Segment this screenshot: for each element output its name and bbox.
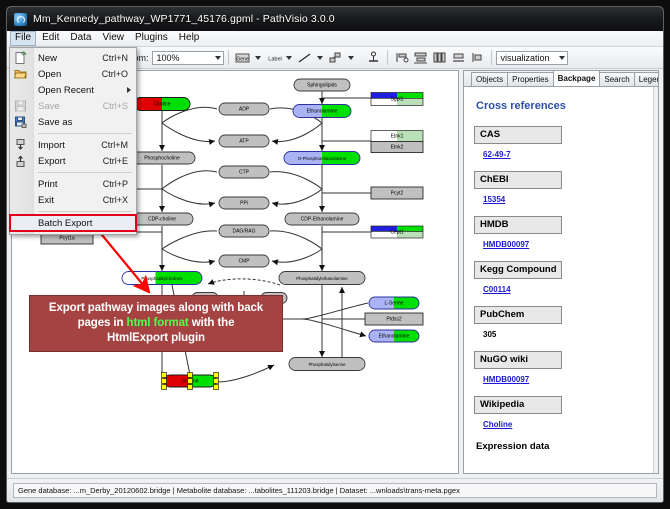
save-disk-icon bbox=[14, 100, 27, 113]
title-bar: Mm_Kennedy_pathway_WP1771_45176.gpml - P… bbox=[7, 7, 663, 31]
pathway-node-label: ATP bbox=[239, 138, 249, 144]
pathway-node-label: CDP-choline bbox=[148, 216, 176, 222]
menu-bar: File Edit Data View Plugins Help bbox=[7, 31, 663, 47]
status-text: Gene database: ...m_Derby_20120602.bridg… bbox=[13, 483, 657, 498]
pathway-node-label: DAG/RAG bbox=[232, 228, 255, 234]
toolbar-separator bbox=[228, 50, 229, 65]
annotation-callout: Export pathway images along with back pa… bbox=[29, 295, 283, 352]
pathway-node-metabolite[interactable]: O-Phosphoethanolamine bbox=[284, 152, 360, 165]
menu-item-print[interactable]: Print Ctrl+P bbox=[10, 176, 136, 192]
pathway-node-metabolite[interactable]: Phosphatidylserine bbox=[289, 358, 365, 371]
pathway-node-gene[interactable]: Etnk1 bbox=[371, 131, 423, 142]
pathway-node-label: Choline bbox=[154, 101, 171, 107]
menu-item-label: Export bbox=[38, 156, 103, 167]
screenshot-root: Mm_Kennedy_pathway_WP1771_45176.gpml - P… bbox=[0, 0, 670, 509]
pathway-node-label: CDP-Ethanolamine bbox=[301, 216, 344, 222]
annotation-line-2a: pages in bbox=[78, 317, 127, 329]
menu-plugins[interactable]: Plugins bbox=[130, 31, 173, 46]
xref-link-cas[interactable]: 62-49-7 bbox=[483, 150, 511, 159]
annotation-line-3: HtmlExport plugin bbox=[107, 332, 205, 344]
xref-db-label: Kegg Compound bbox=[474, 261, 562, 279]
selection-handle[interactable] bbox=[214, 373, 219, 378]
menu-item-label: Print bbox=[38, 179, 103, 190]
menu-item-accel: Ctrl+M bbox=[101, 140, 136, 150]
receptor-tool[interactable] bbox=[327, 49, 344, 66]
label-tool[interactable]: Label bbox=[265, 49, 282, 66]
line-tool[interactable] bbox=[296, 49, 313, 66]
selection-handle[interactable] bbox=[162, 385, 167, 390]
menu-item-label: New bbox=[38, 53, 102, 64]
open-folder-icon bbox=[14, 68, 27, 81]
pathway-node-metabolite[interactable]: Ethanolamine bbox=[293, 105, 351, 118]
receptor-dropdown-icon[interactable] bbox=[348, 56, 354, 60]
pathway-node-gene[interactable]: Ptdss2 bbox=[365, 313, 423, 325]
menu-separator bbox=[38, 133, 132, 134]
pathway-node-metabolite[interactable]: ADP bbox=[219, 103, 269, 115]
xref-db-label: Wikipedia bbox=[474, 396, 562, 414]
cross-references-title: Cross references bbox=[476, 100, 648, 112]
menu-file[interactable]: File bbox=[10, 31, 36, 46]
tab-properties[interactable]: Properties bbox=[507, 72, 553, 86]
side-panel-tabs: Objects Properties Backpage Search Legen… bbox=[464, 71, 658, 87]
annotation-line-2b: with the bbox=[189, 317, 235, 329]
pathway-node-metabolite[interactable]: CDP-Ethanolamine bbox=[285, 213, 359, 225]
order-icon[interactable] bbox=[469, 49, 486, 66]
pathway-node-label: Phosphocholine bbox=[144, 155, 180, 161]
menu-item-save-as[interactable]: Save as bbox=[10, 114, 136, 130]
chevron-down-icon bbox=[559, 56, 565, 60]
expression-data-heading: Expression data bbox=[476, 441, 648, 452]
menu-help[interactable]: Help bbox=[174, 31, 205, 46]
zoom-combobox[interactable]: 100% bbox=[152, 51, 224, 65]
line-dropdown-icon[interactable] bbox=[317, 56, 323, 60]
status-bar: Gene database: ...m_Derby_20120602.bridg… bbox=[7, 478, 663, 502]
pathway-node-label: Sgpl1 bbox=[391, 96, 404, 102]
gene-shape-tool[interactable]: Gene bbox=[234, 49, 251, 66]
pathway-node-label: Ethanolamine bbox=[379, 333, 410, 339]
anchor-tool[interactable] bbox=[365, 49, 382, 66]
menu-item-accel: Ctrl+P bbox=[103, 179, 136, 189]
xref-cas: CAS 62-49-7 bbox=[474, 126, 648, 162]
menu-item-save: Save Ctrl+S bbox=[10, 98, 136, 114]
xref-link-kegg[interactable]: C00114 bbox=[483, 285, 511, 294]
menu-item-import[interactable]: Import Ctrl+M bbox=[10, 137, 136, 153]
chevron-down-icon bbox=[215, 56, 221, 60]
menu-item-label: Exit bbox=[38, 195, 103, 206]
menu-view[interactable]: View bbox=[97, 31, 129, 46]
import-icon bbox=[14, 139, 27, 152]
selection-handle[interactable] bbox=[162, 379, 167, 384]
export-icon bbox=[14, 155, 27, 168]
backpage-scrollbar[interactable] bbox=[653, 87, 658, 473]
pathway-node-metabolite[interactable]: ATP bbox=[219, 135, 269, 147]
pathway-node-label: Sphingolipids bbox=[307, 82, 337, 88]
group-icon[interactable] bbox=[450, 49, 467, 66]
tab-search[interactable]: Search bbox=[599, 72, 634, 86]
stack-icon[interactable] bbox=[431, 49, 448, 66]
menu-item-accel: Ctrl+O bbox=[102, 69, 136, 79]
pathway-node-metabolite[interactable]: Choline bbox=[134, 98, 190, 111]
pathway-node-gene[interactable]: Pcyt2 bbox=[371, 187, 423, 199]
selection-handle[interactable] bbox=[214, 385, 219, 390]
tab-legend[interactable]: Legend bbox=[634, 72, 659, 86]
menu-item-accel: Ctrl+E bbox=[103, 156, 136, 166]
menu-item-accel: Ctrl+X bbox=[103, 195, 136, 205]
visualization-combobox[interactable]: visualization bbox=[496, 51, 568, 65]
pathway-node-label: Pcyt2 bbox=[391, 190, 404, 196]
pathway-node-metabolite[interactable]: CTP bbox=[219, 166, 269, 178]
menu-edit[interactable]: Edit bbox=[37, 31, 64, 46]
xref-db-label: NuGO wiki bbox=[474, 351, 562, 369]
menu-item-label: Save as bbox=[38, 117, 128, 128]
xref-db-label: CAS bbox=[474, 126, 562, 144]
pathway-node-metabolite[interactable]: Phosphatidylethanolamine bbox=[279, 272, 365, 285]
menu-separator-2 bbox=[38, 172, 132, 173]
xref-pubchem: PubChem 305 bbox=[474, 306, 648, 342]
pathway-node-metabolite[interactable]: DAG/RAG bbox=[219, 225, 269, 237]
align-left-icon[interactable] bbox=[393, 49, 410, 66]
menu-item-exit[interactable]: Exit Ctrl+X bbox=[10, 192, 136, 208]
xref-db-label: HMDB bbox=[474, 216, 562, 234]
menu-item-accel: Ctrl+N bbox=[102, 53, 136, 63]
window-title: Mm_Kennedy_pathway_WP1771_45176.gpml - P… bbox=[33, 13, 335, 25]
pathway-node-metabolite[interactable]: PPi bbox=[219, 197, 269, 209]
pathway-node-label: L-Serine bbox=[385, 300, 404, 306]
menu-item-label: Open bbox=[38, 69, 102, 80]
pathway-node-label: Phosphatidylethanolamine bbox=[296, 276, 348, 281]
visualization-value: visualization bbox=[501, 53, 550, 63]
xref-link-hmdb[interactable]: HMDB00097 bbox=[483, 240, 529, 249]
pathway-node-gene[interactable]: Sgpl1 bbox=[371, 93, 423, 106]
pathway-node-metabolite[interactable]: Ethanolamine bbox=[369, 330, 419, 342]
pathway-node-gene[interactable]: Cept1 bbox=[371, 226, 423, 238]
annotation-text: Export pathway images along with back pa… bbox=[49, 301, 263, 346]
xref-db-label: ChEBI bbox=[474, 171, 562, 189]
pathway-node-label: Phosphatidylcholines bbox=[141, 276, 183, 281]
svg-text:Label: Label bbox=[268, 56, 281, 62]
toolbar-separator-3 bbox=[491, 50, 492, 65]
pathway-node-metabolite[interactable]: Phosphocholine bbox=[129, 152, 195, 164]
pathway-node-metabolite[interactable]: CDP-choline bbox=[131, 213, 193, 225]
menu-item-new[interactable]: New Ctrl+N bbox=[10, 50, 136, 66]
pathway-node-label: PPi bbox=[240, 200, 248, 206]
tab-objects[interactable]: Objects bbox=[471, 72, 508, 86]
pathway-node-gene[interactable]: Etnk2 bbox=[371, 142, 423, 153]
menu-item-open-recent[interactable]: Open Recent bbox=[10, 82, 136, 98]
pathway-node-label: Phosphatidylserine bbox=[308, 362, 346, 367]
selection-handle[interactable] bbox=[214, 379, 219, 384]
pathway-node-metabolite[interactable]: CMP bbox=[219, 255, 269, 267]
pathway-node-label: CMP bbox=[238, 258, 250, 264]
pathway-node-metabolite[interactable]: Sphingolipids bbox=[294, 79, 350, 91]
zoom-value: 100% bbox=[157, 53, 180, 63]
xref-db-label: PubChem bbox=[474, 306, 562, 324]
side-panel: Objects Properties Backpage Search Legen… bbox=[463, 70, 659, 474]
pathway-node-metabolite[interactable]: Choline bbox=[162, 373, 219, 390]
chevron-right-icon bbox=[127, 87, 131, 93]
annotation-line-1: Export pathway images along with back bbox=[49, 302, 263, 314]
gene-shape-dropdown-icon[interactable] bbox=[255, 56, 261, 60]
menu-item-label: Save bbox=[38, 101, 103, 112]
selection-handle[interactable] bbox=[188, 379, 193, 384]
xref-wikipedia: Wikipedia Choline bbox=[474, 396, 648, 432]
menu-item-accel: Ctrl+S bbox=[103, 101, 136, 111]
menu-item-open[interactable]: Open Ctrl+O bbox=[10, 66, 136, 82]
pathvisio-icon bbox=[14, 13, 27, 26]
xref-hmdb: HMDB HMDB00097 bbox=[474, 216, 648, 252]
pathway-node-label: Etnk2 bbox=[391, 144, 404, 150]
pathway-node-metabolite[interactable]: Phosphatidylcholines bbox=[122, 272, 202, 285]
selection-handle[interactable] bbox=[188, 385, 193, 390]
xref-link-nugo[interactable]: HMDB00097 bbox=[483, 375, 529, 384]
file-menu-dropdown: New Ctrl+N Open Ctrl+O Open Recent Save bbox=[9, 47, 137, 235]
xref-link-wikipedia[interactable]: Choline bbox=[483, 420, 512, 429]
menu-item-batch-export[interactable]: Batch Export bbox=[10, 215, 136, 231]
pathway-node-label: CTP bbox=[239, 169, 250, 175]
pathway-node-label: Cept1 bbox=[390, 229, 404, 235]
svg-text:Gene: Gene bbox=[236, 56, 248, 62]
menu-separator-3 bbox=[38, 211, 132, 212]
pathway-node-label: Ptdss2 bbox=[386, 316, 402, 322]
selection-handle[interactable] bbox=[162, 373, 167, 378]
application-window: Mm_Kennedy_pathway_WP1771_45176.gpml - P… bbox=[6, 6, 664, 503]
xref-kegg: Kegg Compound C00114 bbox=[474, 261, 648, 297]
pathway-node-label: Pcyt1a bbox=[59, 235, 75, 241]
menu-item-export[interactable]: Export Ctrl+E bbox=[10, 153, 136, 169]
save-as-icon bbox=[14, 116, 27, 129]
tab-backpage[interactable]: Backpage bbox=[553, 70, 601, 86]
xref-chebi: ChEBI 15354 bbox=[474, 171, 648, 207]
toolbar-separator-2 bbox=[387, 50, 388, 65]
menu-item-label: Import bbox=[38, 140, 101, 151]
pathway-node-label: Ethanolamine bbox=[307, 108, 338, 114]
pathway-node-label: O-Phosphoethanolamine bbox=[298, 156, 347, 161]
xref-value-pubchem: 305 bbox=[483, 330, 496, 339]
menu-data[interactable]: Data bbox=[65, 31, 96, 46]
menu-item-label: Batch Export bbox=[38, 218, 128, 229]
align-distribute-icon[interactable] bbox=[412, 49, 429, 66]
label-dropdown-icon[interactable] bbox=[286, 56, 292, 60]
pathway-node-label: ADP bbox=[239, 106, 250, 112]
pathway-node-label: Etnk1 bbox=[391, 133, 404, 139]
menu-item-label: Open Recent bbox=[38, 85, 136, 96]
new-document-icon bbox=[14, 52, 27, 65]
xref-link-chebi[interactable]: 15354 bbox=[483, 195, 505, 204]
backpage-panel: Cross references CAS 62-49-7 ChEBI 15354… bbox=[464, 87, 658, 473]
pathway-node-metabolite[interactable]: L-Serine bbox=[369, 297, 419, 309]
xref-nugo: NuGO wiki HMDB00097 bbox=[474, 351, 648, 387]
selection-handle[interactable] bbox=[188, 373, 193, 378]
annotation-highlight: html format bbox=[127, 317, 189, 329]
